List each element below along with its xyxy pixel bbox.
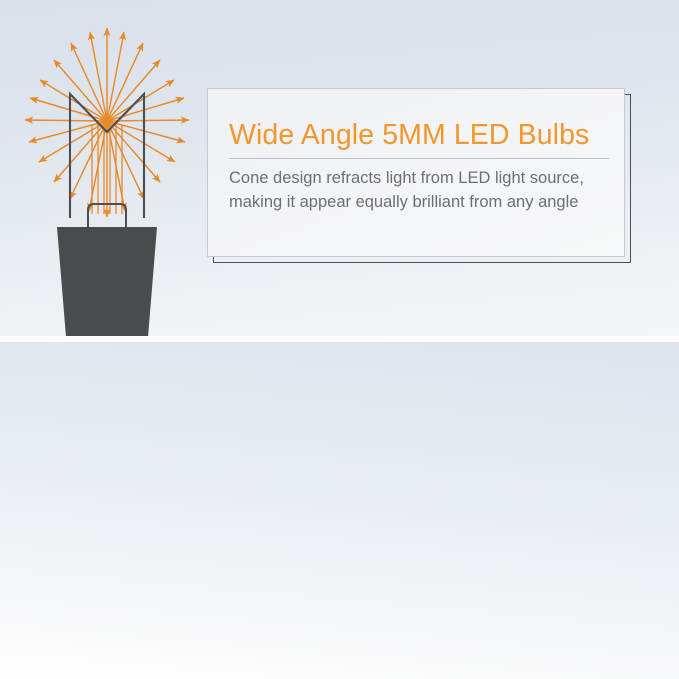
- wide-angle-led-bulb-diagram: [12, 14, 227, 337]
- wide-angle-text-panel: Wide Angle 5MM LED Bulbs Cone design ref…: [207, 88, 631, 263]
- description-line-1: Cone design refracts light from LED ligh…: [229, 167, 609, 191]
- page-title-wide-angle: Wide Angle 5MM LED Bulbs: [229, 118, 609, 152]
- description-line-2: making it appear equally brilliant from …: [229, 191, 609, 215]
- wide-angle-section: Wide Angle 5MM LED Bulbs Cone design ref…: [0, 0, 679, 337]
- wide-angle-description: Cone design refracts light from LED ligh…: [229, 159, 609, 214]
- standard-section: Standard LED Bulbs Standard LED appear b…: [0, 342, 679, 679]
- panel-content: Wide Angle 5MM LED Bulbs Cone design ref…: [229, 118, 609, 238]
- product-comparison-infographic: Wide Angle 5MM LED Bulbs Cone design ref…: [0, 0, 679, 679]
